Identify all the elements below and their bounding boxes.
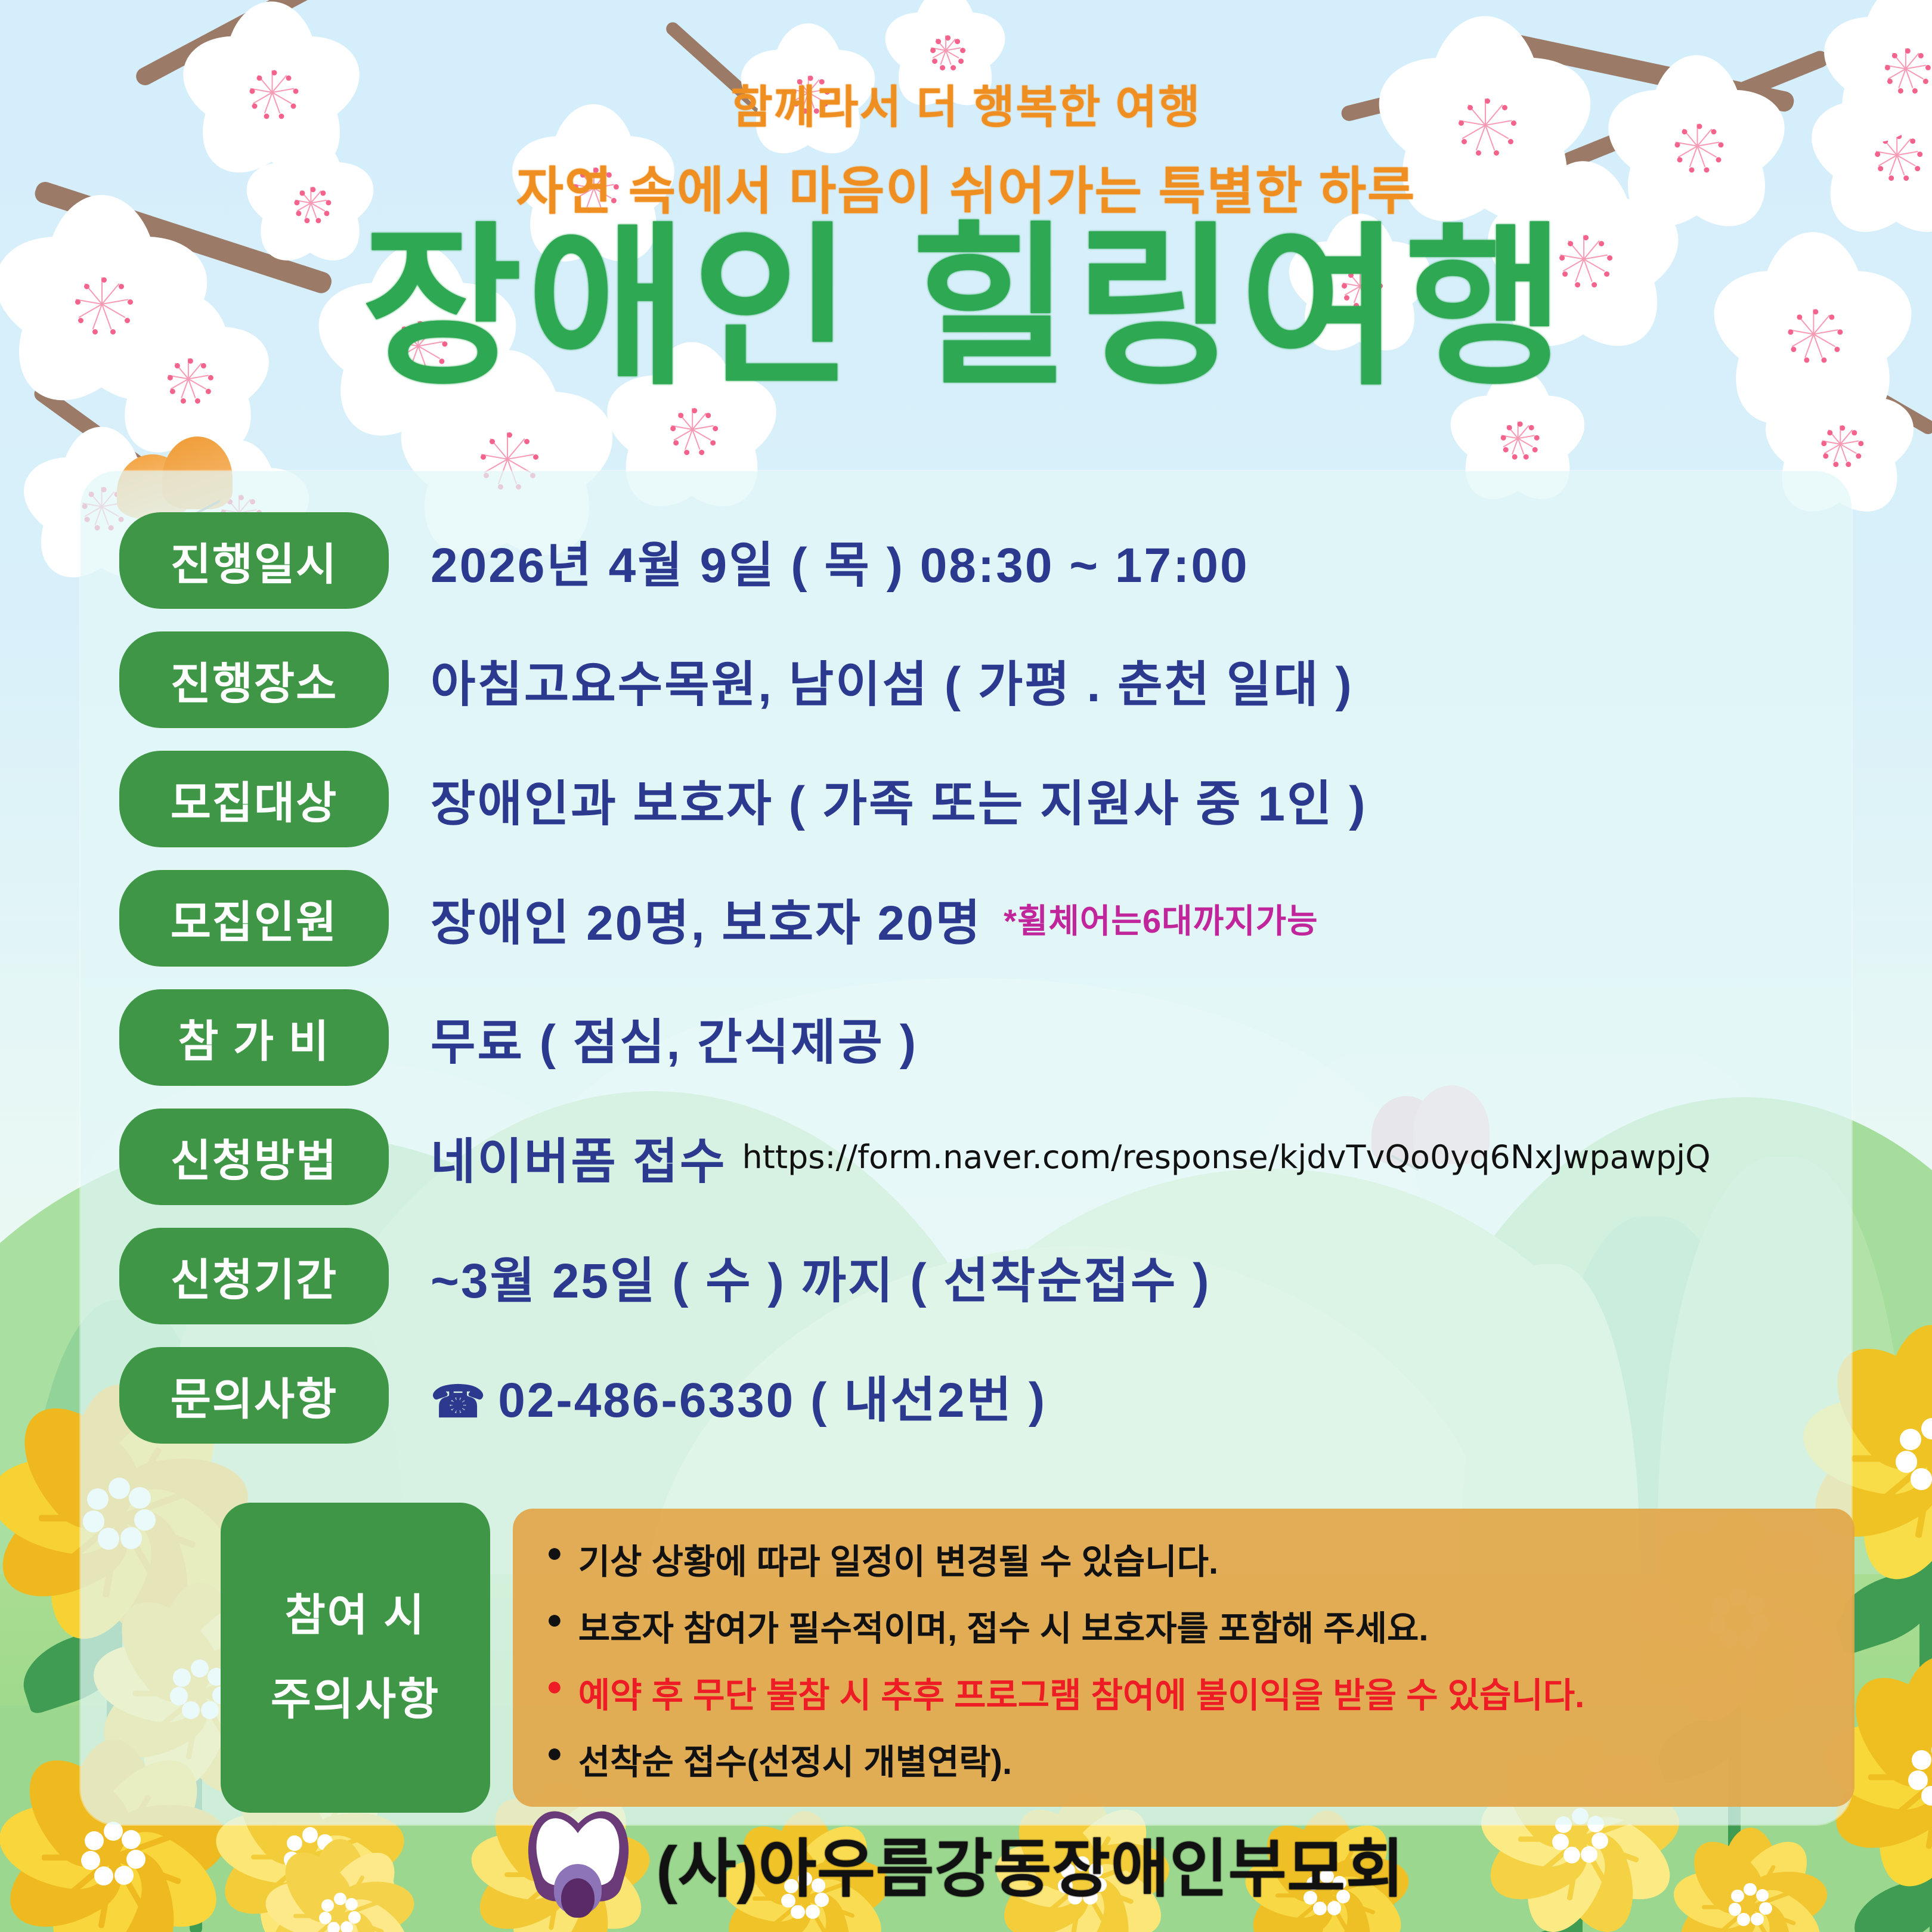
purple-heart-butterfly-logo-icon bbox=[528, 1807, 629, 1920]
poster-canvas: 함께라서 더 행복한 여행 자연 속에서 마음이 쉬어가는 특별한 하루 장애인… bbox=[0, 0, 1932, 1932]
row-label-contact: 문의사항 bbox=[119, 1347, 389, 1444]
info-row-list: 진행일시 2026년 4월 9일 ( 목 ) 08:30 ~ 17:00 진행장… bbox=[119, 501, 1849, 1455]
info-row-schedule: 진행일시 2026년 4월 9일 ( 목 ) 08:30 ~ 17:00 bbox=[119, 501, 1849, 620]
row-label-apply-period: 신청기간 bbox=[119, 1228, 389, 1324]
row-label-fee: 참 가 비 bbox=[119, 989, 389, 1086]
organization-name: (사)아우름강동장애인부모회 bbox=[657, 1818, 1405, 1909]
caution-list: ● 기상 상황에 따라 일정이 변경될 수 있습니다. ● 보호자 참여가 필수… bbox=[513, 1509, 1854, 1807]
row-label-apply-method: 신청방법 bbox=[119, 1109, 389, 1205]
row-value-contact: 02-486-6330 ( 내선2번 ) bbox=[498, 1373, 1046, 1428]
caution-item: ● 선착순 접수(선정시 개별연락). bbox=[546, 1734, 1821, 1784]
page-title: 장애인 힐링여행 bbox=[0, 221, 1932, 395]
row-value-capacity: 장애인 20명, 보호자 20명 bbox=[431, 883, 982, 954]
caution-item: ● 보호자 참여가 필수적이며, 접수 시 보호자를 포함해 주세요. bbox=[546, 1600, 1821, 1651]
caution-section: 참여 시 주의사항 ● 기상 상황에 따라 일정이 변경될 수 있습니다. ● … bbox=[221, 1503, 1854, 1813]
wheelchair-note: *휠체어는6대까지가능 bbox=[1004, 894, 1318, 943]
info-row-apply-period: 신청기간 ~3월 25일 ( 수 ) 까지 ( 선착순접수 ) bbox=[119, 1216, 1849, 1336]
bullet-icon: ● bbox=[546, 1534, 563, 1571]
row-value-audience: 장애인과 보호자 ( 가족 또는 지원사 중 1인 ) bbox=[431, 764, 1367, 835]
row-value-fee: 무료 ( 점심, 간식제공 ) bbox=[431, 1002, 918, 1073]
row-value-contact-wrap: ☎02-486-6330 ( 내선2번 ) bbox=[431, 1360, 1046, 1431]
naver-form-url[interactable]: https://form.naver.com/response/kjdvTvQo… bbox=[742, 1138, 1710, 1176]
bullet-icon: ● bbox=[546, 1667, 563, 1704]
info-row-contact: 문의사항 ☎02-486-6330 ( 내선2번 ) bbox=[119, 1336, 1849, 1455]
row-value-apply-method: 네이버폼 접수 bbox=[431, 1122, 726, 1193]
row-value-schedule: 2026년 4월 9일 ( 목 ) 08:30 ~ 17:00 bbox=[431, 525, 1249, 596]
info-row-location: 진행장소 아침고요수목원, 남이섬 ( 가평 . 춘천 일대 ) bbox=[119, 620, 1849, 739]
row-label-audience: 모집대상 bbox=[119, 751, 389, 847]
row-label-capacity: 모집인원 bbox=[119, 870, 389, 967]
row-value-apply-period: ~3월 25일 ( 수 ) 까지 ( 선착순접수 ) bbox=[431, 1241, 1211, 1312]
caution-item-text: 보호자 참여가 필수적이며, 접수 시 보호자를 포함해 주세요. bbox=[578, 1600, 1429, 1651]
info-row-apply-method: 신청방법 네이버폼 접수 https://form.naver.com/resp… bbox=[119, 1097, 1849, 1216]
info-row-fee: 참 가 비 무료 ( 점심, 간식제공 ) bbox=[119, 978, 1849, 1097]
caution-item-text: 예약 후 무단 불참 시 추후 프로그램 참여에 불이익을 받을 수 있습니다. bbox=[578, 1667, 1584, 1717]
caution-item-text: 기상 상황에 따라 일정이 변경될 수 있습니다. bbox=[578, 1534, 1218, 1584]
info-row-audience: 모집대상 장애인과 보호자 ( 가족 또는 지원사 중 1인 ) bbox=[119, 739, 1849, 859]
caution-item: ● 기상 상황에 따라 일정이 변경될 수 있습니다. bbox=[546, 1534, 1821, 1584]
info-row-capacity: 모집인원 장애인 20명, 보호자 20명 *휠체어는6대까지가능 bbox=[119, 859, 1849, 978]
caution-label-line-2: 주의사항 bbox=[271, 1658, 440, 1742]
footer: (사)아우름강동장애인부모회 bbox=[0, 1807, 1932, 1920]
caution-label-line-1: 참여 시 bbox=[285, 1574, 426, 1658]
telephone-icon: ☎ bbox=[431, 1377, 487, 1426]
kicker-line-1: 함께라서 더 행복한 여행 bbox=[0, 70, 1932, 136]
row-label-schedule: 진행일시 bbox=[119, 512, 389, 609]
bullet-icon: ● bbox=[546, 1600, 563, 1637]
caution-item-text: 선착순 접수(선정시 개별연락). bbox=[578, 1734, 1012, 1784]
caution-label: 참여 시 주의사항 bbox=[221, 1503, 490, 1813]
row-value-location: 아침고요수목원, 남이섬 ( 가평 . 춘천 일대 ) bbox=[431, 645, 1354, 716]
row-label-location: 진행장소 bbox=[119, 631, 389, 728]
caution-item-alert: ● 예약 후 무단 불참 시 추후 프로그램 참여에 불이익을 받을 수 있습니… bbox=[546, 1667, 1821, 1717]
bullet-icon: ● bbox=[546, 1734, 563, 1771]
